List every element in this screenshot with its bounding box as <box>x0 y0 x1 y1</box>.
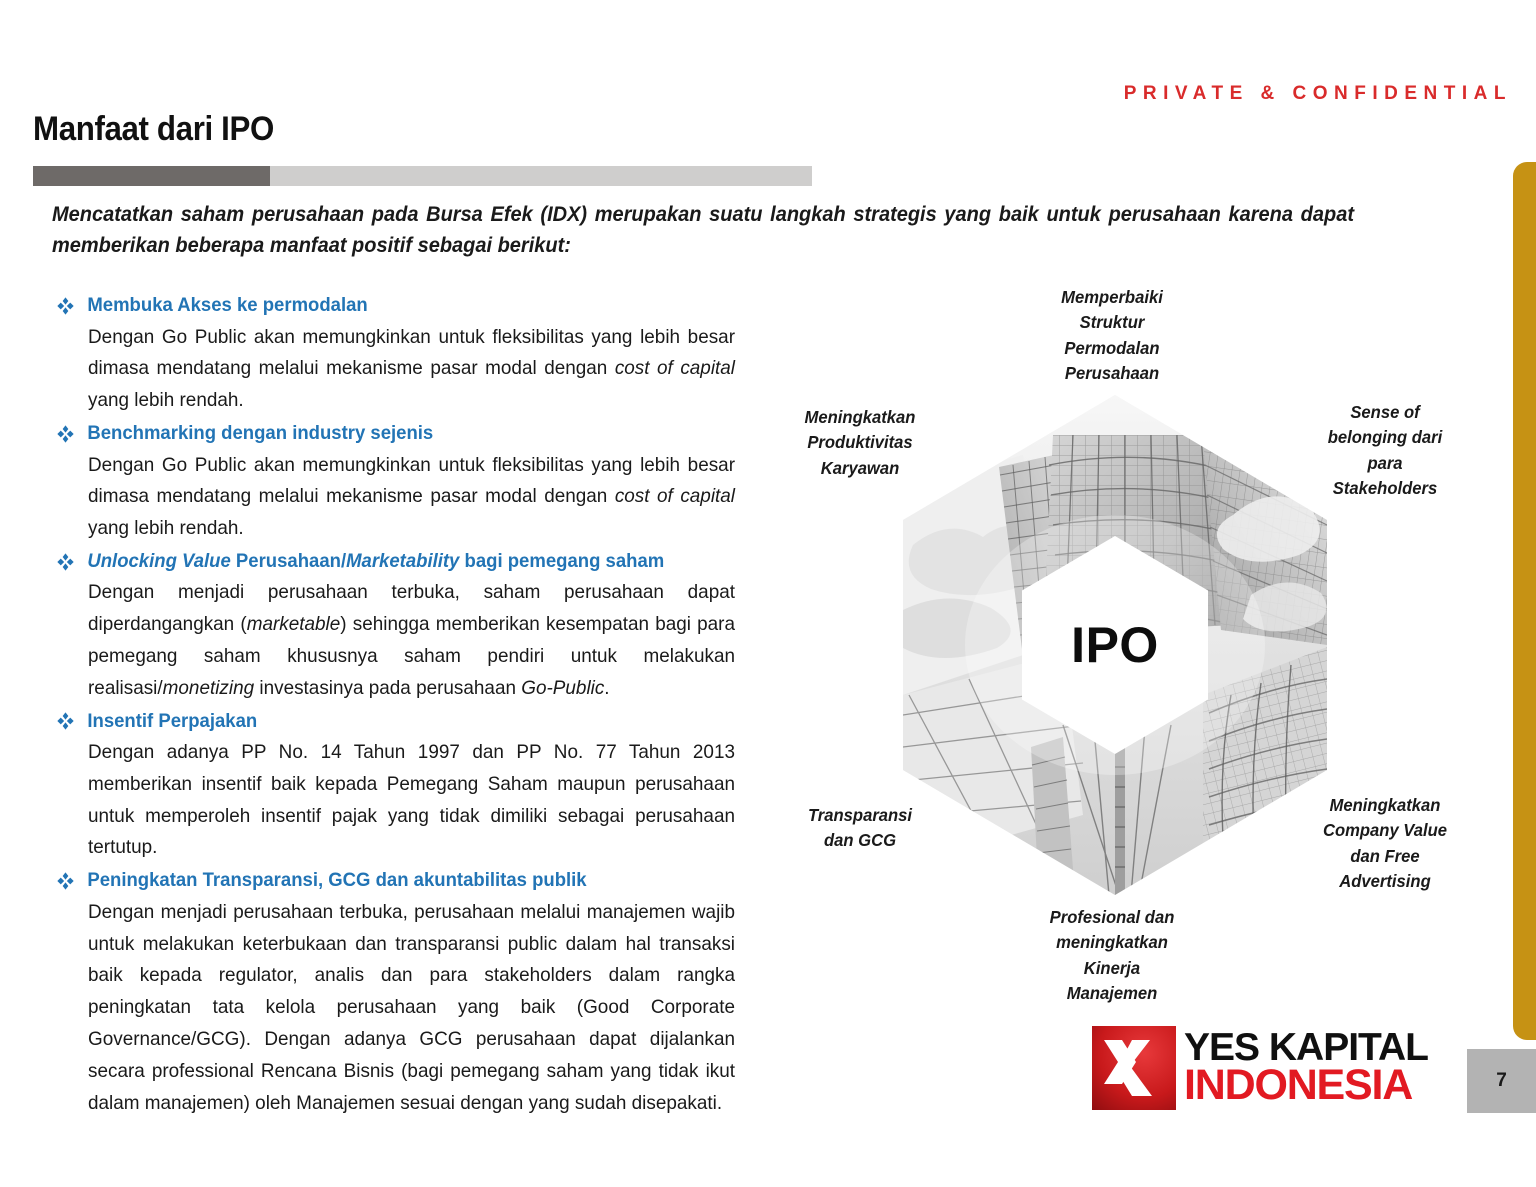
benefit-body-3: Dengan adanya PP No. 14 Tahun 1997 dan P… <box>56 737 735 864</box>
diamond-cluster-bullet-icon <box>56 871 75 891</box>
page-number: 7 <box>1496 1070 1507 1092</box>
benefit-heading-text: Benchmarking dengan industry sejenis <box>87 422 433 444</box>
page-title: Manfaat dari IPO <box>33 110 274 149</box>
title-rule-light-segment <box>270 166 812 186</box>
logo-line-2: INDONESIA <box>1184 1066 1428 1106</box>
hex-label-top-right: Sense of belonging dari para Stakeholder… <box>1300 400 1471 502</box>
page-number-badge: 7 <box>1467 1049 1536 1113</box>
diamond-cluster-bullet-icon <box>56 552 75 572</box>
benefit-heading-text: Insentif Perpajakan <box>87 710 257 732</box>
hex-label-bottom: Profesional dan meningkatkan Kinerja Man… <box>1008 905 1217 1007</box>
benefit-body-0: Dengan Go Public akan memungkinkan untuk… <box>56 322 735 417</box>
list-item: Benchmarking dengan industry sejenisDeng… <box>56 418 756 545</box>
benefit-heading-3: Insentif Perpajakan <box>56 706 721 738</box>
list-item: Peningkatan Transparansi, GCG dan akunta… <box>56 865 756 1119</box>
intro-paragraph: Mencatatkan saham perusahaan pada Bursa … <box>52 199 1354 260</box>
logo-wordmark: YES KAPITAL INDONESIA <box>1184 1030 1428 1105</box>
k-glyph <box>1092 1026 1176 1110</box>
benefit-body-4: Dengan menjadi perusahaan terbuka, perus… <box>56 897 735 1119</box>
hex-label-top-left: Meningkatkan Produktivitas Karyawan <box>775 405 946 481</box>
title-underline-bar <box>33 166 812 186</box>
benefit-heading-text: Peningkatan Transparansi, GCG dan akunta… <box>87 869 586 891</box>
benefit-heading-text: Membuka Akses ke permodalan <box>87 294 367 316</box>
diamond-cluster-bullet-icon <box>56 296 75 316</box>
diamond-cluster-bullet-icon <box>56 711 75 731</box>
benefit-heading-text: Unlocking Value Perusahaan/Marketability… <box>87 550 664 572</box>
list-item: Insentif PerpajakanDengan adanya PP No. … <box>56 706 756 865</box>
benefit-heading-1: Benchmarking dengan industry sejenis <box>56 418 721 450</box>
yes-kapital-k-mark-icon <box>1092 1026 1176 1110</box>
company-logo: YES KAPITAL INDONESIA <box>1092 1024 1428 1112</box>
confidential-notice: PRIVATE & CONFIDENTIAL <box>1124 83 1512 105</box>
benefit-heading-0: Membuka Akses ke permodalan <box>56 290 721 322</box>
benefits-list: Membuka Akses ke permodalanDengan Go Pub… <box>56 290 756 1120</box>
benefit-heading-4: Peningkatan Transparansi, GCG dan akunta… <box>56 865 721 897</box>
benefit-heading-2: Unlocking Value Perusahaan/Marketability… <box>56 546 721 578</box>
hex-label-bottom-left: Transparansi dan GCG <box>775 803 946 854</box>
hex-label-top: Memperbaiki Struktur Permodalan Perusaha… <box>1008 285 1217 387</box>
slide-canvas: PRIVATE & CONFIDENTIAL Manfaat dari IPO … <box>0 0 1536 1187</box>
hex-label-bottom-right: Meningkatkan Company Value dan Free Adve… <box>1300 793 1471 895</box>
hexagon-center-label: IPO <box>1071 616 1159 674</box>
diamond-cluster-bullet-icon <box>56 424 75 444</box>
right-accent-bar <box>1513 162 1536 1040</box>
ipo-benefits-hexagon-diagram: IPO Memperbaiki Struktur Permodalan Peru… <box>770 275 1470 1015</box>
list-item: Membuka Akses ke permodalanDengan Go Pub… <box>56 290 756 417</box>
benefit-body-2: Dengan menjadi perusahaan terbuka, saham… <box>56 577 735 704</box>
hexagon-outer: IPO <box>903 395 1327 895</box>
list-item: Unlocking Value Perusahaan/Marketability… <box>56 546 756 705</box>
benefit-body-1: Dengan Go Public akan memungkinkan untuk… <box>56 450 735 545</box>
title-rule-dark-segment <box>33 166 270 186</box>
